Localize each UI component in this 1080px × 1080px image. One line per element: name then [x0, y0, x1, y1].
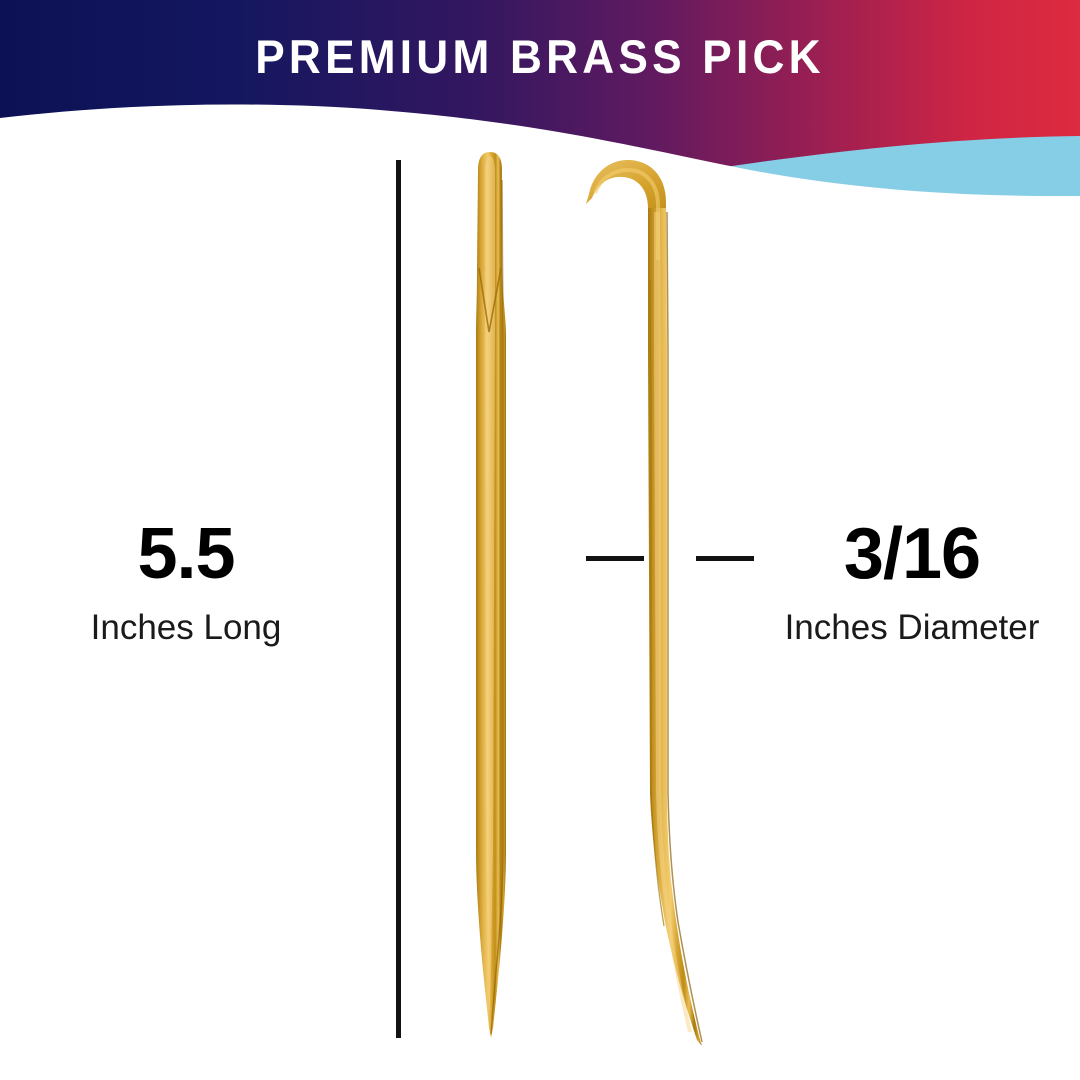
callout-length: 5.5 Inches Long	[0, 518, 372, 645]
length-measure-line	[396, 160, 401, 1038]
length-value: 5.5	[0, 518, 372, 590]
length-unit-label: Inches Long	[0, 610, 372, 645]
product-infographic: PREMIUM BRASS PICK	[0, 0, 1080, 1080]
hook-brass-pick	[576, 150, 726, 1055]
callout-diameter: 3/16 Inches Diameter	[752, 518, 1072, 645]
diameter-value: 3/16	[752, 518, 1072, 590]
straight-brass-pick	[430, 150, 560, 1050]
diameter-unit-label: Inches Diameter	[752, 610, 1072, 645]
